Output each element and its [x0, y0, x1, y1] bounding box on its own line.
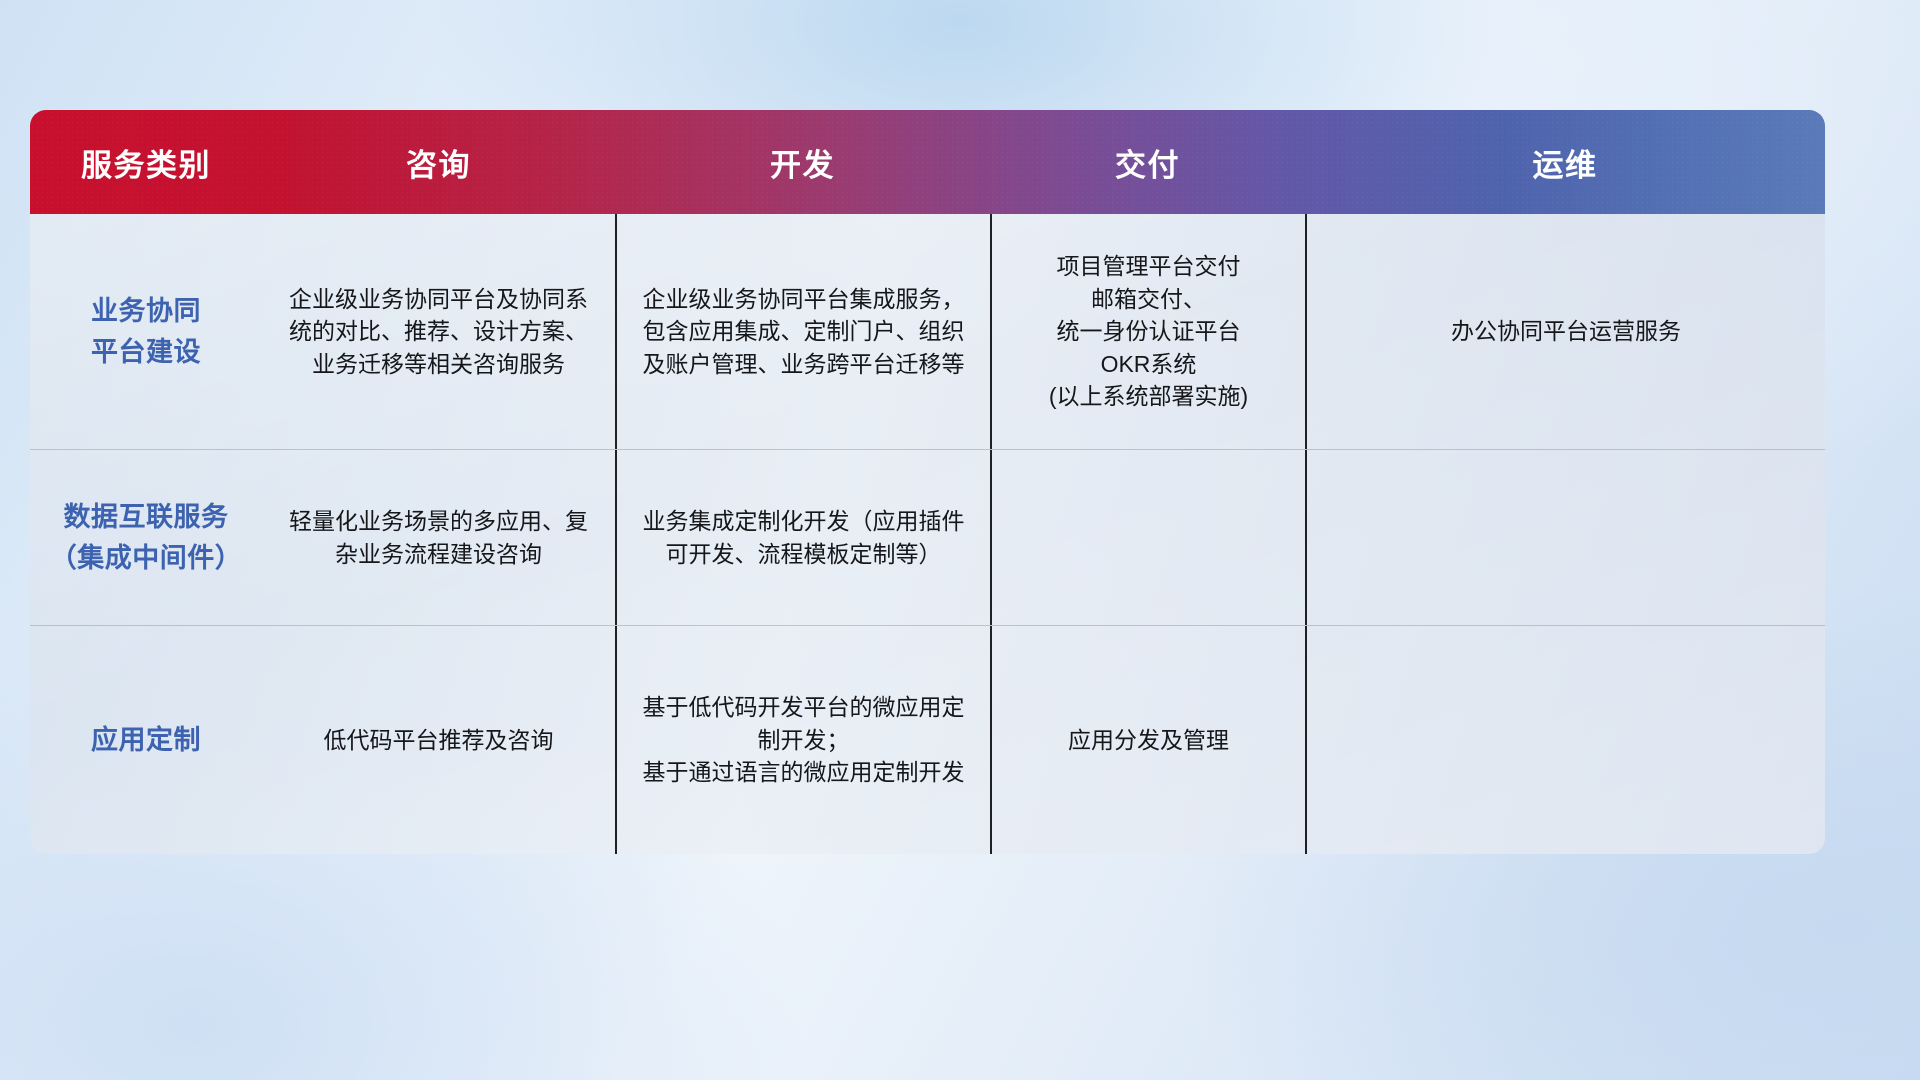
table-row: 业务协同 平台建设 企业级业务协同平台及协同系 统的对比、推荐、设计方案、 业务…	[30, 214, 1825, 450]
cell-delivery-row3: 应用分发及管理	[990, 626, 1305, 854]
table-header-row: 服务类别 咨询 开发 交付 运维	[30, 110, 1825, 214]
column-header-operations: 运维	[1305, 110, 1825, 214]
cell-delivery-row2	[990, 450, 1305, 625]
service-matrix-table: 服务类别 咨询 开发 交付 运维 业务协同 平台建设 企业级业务协同平台及协同系…	[30, 110, 1825, 854]
table-body: 业务协同 平台建设 企业级业务协同平台及协同系 统的对比、推荐、设计方案、 业务…	[30, 214, 1825, 854]
cell-consulting-row1: 企业级业务协同平台及协同系 统的对比、推荐、设计方案、 业务迁移等相关咨询服务	[262, 214, 615, 449]
column-header-consulting: 咨询	[262, 110, 615, 214]
cell-consulting-row2: 轻量化业务场景的多应用、复 杂业务流程建设咨询	[262, 450, 615, 625]
cell-operations-row2	[1305, 450, 1825, 625]
cell-development-row3: 基于低代码开发平台的微应用定 制开发； 基于通过语言的微应用定制开发	[615, 626, 990, 854]
row-label-data-interconnect: 数据互联服务 （集成中间件）	[30, 450, 262, 625]
row-label-business-collaboration: 业务协同 平台建设	[30, 214, 262, 449]
table-row: 数据互联服务 （集成中间件） 轻量化业务场景的多应用、复 杂业务流程建设咨询 业…	[30, 450, 1825, 626]
cell-operations-row1: 办公协同平台运营服务	[1305, 214, 1825, 449]
cell-development-row2: 业务集成定制化开发（应用插件 可开发、流程模板定制等）	[615, 450, 990, 625]
cell-delivery-row1: 项目管理平台交付 邮箱交付、 统一身份认证平台 OKR系统 (以上系统部署实施)	[990, 214, 1305, 449]
table-row: 应用定制 低代码平台推荐及咨询 基于低代码开发平台的微应用定 制开发； 基于通过…	[30, 626, 1825, 854]
cell-development-row1: 企业级业务协同平台集成服务， 包含应用集成、定制门户、组织 及账户管理、业务跨平…	[615, 214, 990, 449]
column-header-delivery: 交付	[990, 110, 1305, 214]
column-header-development: 开发	[615, 110, 990, 214]
cell-operations-row3	[1305, 626, 1825, 854]
column-header-category: 服务类别	[30, 110, 262, 214]
cell-consulting-row3: 低代码平台推荐及咨询	[262, 626, 615, 854]
row-label-app-customization: 应用定制	[30, 626, 262, 854]
